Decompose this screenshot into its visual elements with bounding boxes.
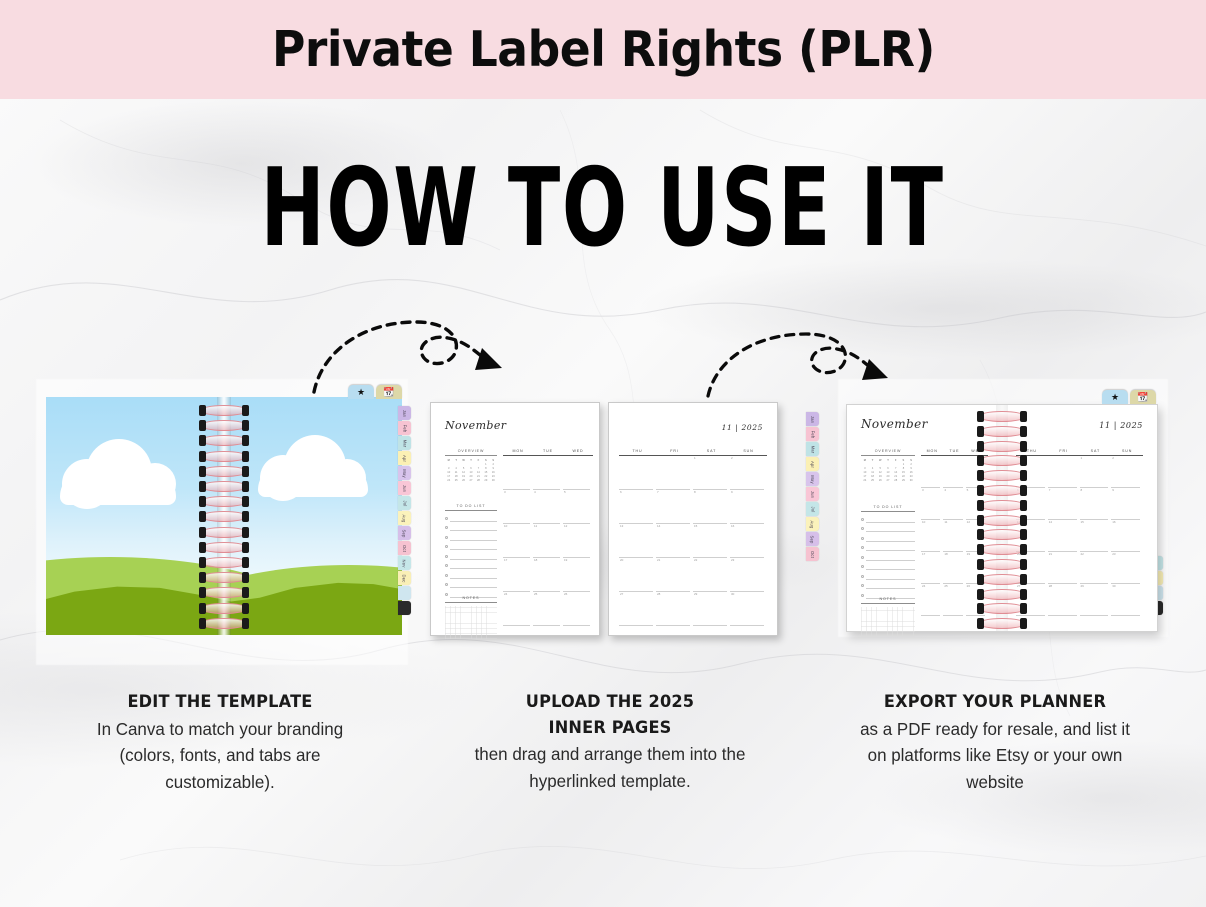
mini-cal-day: 6 [884,467,892,470]
todo-checkbox-icon[interactable] [445,564,448,567]
day-cell[interactable]: 9 [1111,488,1140,520]
mini-cal-day: 17 [861,475,869,478]
weekday-header-left: MONTUEWED [503,449,593,453]
todo-item[interactable] [445,514,497,524]
spiral-ring [978,618,1026,629]
mini-cal-day: 12 [876,471,884,474]
todo-writing-line [450,534,497,541]
day-number: 2 [1112,456,1114,460]
mini-cal-day: 25 [452,479,459,482]
day-cell[interactable]: 27 [619,592,653,626]
month-tab-jun[interactable]: Jun [398,481,411,495]
mini-cal-day: 14 [475,471,482,474]
day-cell[interactable]: 9 [730,490,764,524]
day-number: 24 [504,592,507,596]
spiral-ring [978,544,1026,555]
month-tab-label: Oct [810,550,815,557]
caption-body-1-line-2: (colors, fonts, and tabs are [26,742,414,769]
day-cell[interactable]: 3 [503,490,530,524]
weekday-label: SAT [1080,449,1112,453]
day-cell[interactable]: 24 [503,592,530,626]
notes-heading-left: NOTES [445,596,497,603]
todo-item[interactable] [861,553,915,563]
month-tab-jun[interactable]: Jun [806,487,819,501]
spiral-ring [200,618,248,629]
day-cell[interactable]: 11 [533,524,560,558]
weekday-label: THU [619,449,656,453]
todo-writing-line [866,535,915,542]
caption-body-3-line-3: website [796,769,1194,796]
month-tab-mar[interactable]: Mar [398,436,411,450]
day-number: 10 [922,520,925,524]
month-tab-sep[interactable]: Sep [398,526,411,540]
notes-grid-left[interactable] [445,606,497,639]
spiral-ring [978,500,1026,511]
todo-item[interactable] [861,515,915,525]
week-row[interactable]: 27282930 [1016,584,1143,616]
day-cell[interactable]: 30 [730,592,764,626]
day-cell[interactable]: 21 [1048,552,1077,584]
spiral-ring [978,529,1026,540]
day-number: 27 [620,592,623,596]
month-tab-label: Jan [810,415,815,422]
day-cell[interactable]: 16 [730,524,764,558]
month-tab-mar[interactable]: Mar [806,442,819,456]
planner-full-spread[interactable]: November OVERVIEW MTWTFSS123456789101112… [846,404,1158,632]
mini-cal-dow: F [892,459,900,462]
todo-list-left[interactable] [445,514,497,600]
day-cell[interactable]: 1 [1080,456,1109,488]
todo-item[interactable] [861,581,915,591]
month-tab-apr[interactable]: Apr [398,451,411,465]
day-cell[interactable] [943,456,962,488]
day-cell[interactable]: 14 [1048,520,1077,552]
month-tab-strip-1[interactable]: JanFebMarAprMayJunJulAugSepOctNovDec [398,406,411,616]
todo-writing-line [450,524,497,531]
day-cell[interactable]: 8 [693,490,727,524]
day-cell[interactable]: 16 [1111,520,1140,552]
month-tab-jul[interactable]: Jul [806,502,819,516]
day-cell[interactable]: 3 [921,488,940,520]
day-number: 21 [657,558,660,562]
day-cell[interactable]: 19 [563,558,590,592]
month-tab-aug[interactable]: Aug [398,511,411,525]
mini-cal-day: 24 [445,479,452,482]
mini-cal-dow: T [452,459,459,462]
todo-checkbox-icon[interactable] [861,584,864,587]
month-tab-feb[interactable]: Feb [398,421,411,435]
headline-block: HOW TO USE IT [0,160,1206,256]
day-cell[interactable]: 18 [533,558,560,592]
week-rows-left[interactable]: 345101112171819242526 [503,456,593,626]
todo-item[interactable] [445,580,497,590]
month-tab-label: Aug [402,514,407,522]
todo-writing-line [866,563,915,570]
mini-cal-day: 4 [452,467,459,470]
planner-page-left[interactable]: November OVERVIEW MTWTFSS123456789101112… [430,402,600,636]
mini-cal-day: 6 [467,467,474,470]
day-cell[interactable] [533,456,560,490]
todo-writing-line [866,554,915,561]
mini-cal-day: 16 [490,471,497,474]
year-mark-right: 11 | 2025 [722,423,763,432]
todo-checkbox-icon[interactable] [445,574,448,577]
mini-cal-dow: T [884,459,892,462]
mini-cal-day: 20 [884,475,892,478]
day-cell[interactable]: 20 [619,558,653,592]
month-tab-oct[interactable]: Oct [398,541,411,555]
caption-body-2-line-2: hyperlinked template. [416,768,804,795]
day-number: 3 [504,490,506,494]
day-cell[interactable]: 8 [1080,488,1109,520]
mini-cal-day: 26 [876,479,884,482]
day-number: 20 [620,558,623,562]
year-mark-spread: 11 | 2025 [1099,421,1143,430]
day-cell[interactable]: 29 [693,592,727,626]
todo-block-spread: TO DO LIST [861,505,915,600]
weekday-label: MON [503,449,533,453]
week-row[interactable]: 6789 [1016,488,1143,520]
week-row[interactable]: 101112 [503,524,593,558]
spiral-ring [200,527,248,538]
day-cell[interactable] [619,456,653,490]
todo-checkbox-icon[interactable] [861,537,864,540]
week-row[interactable]: 345 [503,490,593,524]
page-title: Private Label Rights (PLR) [272,21,935,78]
month-tab-nov[interactable]: Nov [398,556,411,570]
day-number: 11 [534,524,537,528]
todo-checkbox-icon[interactable] [861,546,864,549]
month-tab-label: Sep [402,529,407,537]
todo-item[interactable] [861,543,915,553]
mini-cal-dow: T [869,459,877,462]
top-tab-star-3[interactable]: ★ [1102,390,1128,404]
mini-cal-dow: S [482,459,489,462]
week-row[interactable]: 171819 [503,558,593,592]
mini-cal-day: 23 [907,475,915,478]
home-tab[interactable] [398,601,411,615]
day-cell[interactable]: 2 [730,456,764,490]
day-cell[interactable]: 25 [533,592,560,626]
todo-writing-line [866,582,915,589]
caption-body-2-line-1: then drag and arrange them into the [416,741,804,768]
caption-step-3: EXPORT YOUR PLANNER as a PDF ready for r… [790,690,1200,795]
todo-item[interactable] [445,561,497,571]
month-tab-strip-3-left[interactable]: JanFebMarAprMayJunJulAugSepOct [806,412,819,562]
month-tab-jan[interactable]: Jan [398,406,411,420]
caption-step-1: EDIT THE TEMPLATE In Canva to match your… [20,690,420,795]
overview-block-left: OVERVIEW MTWTFSS123456789101112131415161… [445,449,497,482]
day-cell[interactable]: 21 [656,558,690,592]
top-tab-calendar-3[interactable]: 📆 [1130,390,1156,404]
planner-cover-spread[interactable] [46,397,402,635]
todo-item[interactable] [861,524,915,534]
month-tab-label: Feb [810,430,815,438]
mini-cal-day: 18 [452,475,459,478]
day-cell[interactable] [921,456,940,488]
day-cell[interactable]: 23 [730,558,764,592]
mini-cal-day: 30 [490,479,497,482]
day-number: 19 [967,552,970,556]
day-number: 21 [1049,552,1052,556]
mini-cal-day: 15 [900,471,908,474]
todo-checkbox-icon[interactable] [445,555,448,558]
month-tab-label: May [810,475,815,484]
todo-checkbox-icon[interactable] [445,526,448,529]
day-cell[interactable]: 2 [1111,456,1140,488]
star-icon-3: ★ [1111,393,1119,402]
spiral-ring [200,603,248,614]
todo-checkbox-icon[interactable] [445,536,448,539]
mini-calendar-left: MTWTFSS123456789101112131415161718192021… [445,459,497,482]
month-tab-label: Apr [810,460,815,467]
day-cell[interactable]: 23 [1111,552,1140,584]
day-cell[interactable] [503,456,530,490]
mini-cal-dow: T [467,459,474,462]
month-tab-sep[interactable]: Sep [806,532,819,546]
mini-cal-day: 19 [460,475,467,478]
day-cell[interactable]: 15 [1080,520,1109,552]
day-cell[interactable]: 24 [921,584,940,616]
day-number: 4 [944,488,946,492]
week-row[interactable] [503,456,593,490]
week-row[interactable]: 6789 [619,490,767,524]
headline-text: HOW TO USE IT [261,154,945,262]
day-cell[interactable]: 17 [503,558,530,592]
day-number: 5 [564,490,566,494]
mini-cal-day: 5 [876,467,884,470]
day-number: 13 [620,524,623,528]
mini-cal-dow: M [861,459,869,462]
month-tab-feb[interactable]: Feb [806,427,819,441]
todo-checkbox-icon[interactable] [861,518,864,521]
spiral-ring [978,603,1026,614]
todo-item[interactable] [445,523,497,533]
month-tab-label: Mar [810,445,815,453]
day-number: 8 [694,490,696,494]
day-cell[interactable]: 29 [1080,584,1109,616]
week-row[interactable]: 12 [619,456,767,490]
day-cell[interactable]: 15 [693,524,727,558]
todo-item[interactable] [445,542,497,552]
spiral-ring [200,496,248,507]
day-number: 1 [694,456,696,460]
day-cell[interactable]: 22 [1080,552,1109,584]
week-row[interactable]: 13141516 [619,524,767,558]
month-tab-label: Jan [402,409,407,416]
day-cell[interactable]: 6 [619,490,653,524]
week-row[interactable]: 13141516 [1016,520,1143,552]
mini-cal-day: 21 [892,475,900,478]
mini-cal-day: 8 [482,467,489,470]
day-cell[interactable]: 4 [943,488,962,520]
month-tab-oct[interactable]: Oct [806,547,819,561]
day-number: 10 [504,524,507,528]
todo-writing-line [866,573,915,580]
curved-arrow-icon-1 [296,308,516,398]
month-tab-jul[interactable]: Jul [398,496,411,510]
month-tab-may[interactable]: May [398,466,411,480]
week-row[interactable]: 242526 [503,592,593,626]
mini-cal-day: 30 [907,479,915,482]
spiral-ring [978,426,1026,437]
mini-cal-dow: S [900,459,908,462]
todo-item[interactable] [861,562,915,572]
weekgrid-right: THUFRISATSUN 126789131415162021222327282… [619,449,767,627]
notes-tab[interactable] [398,586,411,600]
month-tab-label: May [402,469,407,478]
mini-cal-day: 5 [460,467,467,470]
day-number: 28 [657,592,660,596]
spiral-ring [978,455,1026,466]
day-cell[interactable]: 22 [693,558,727,592]
spiral-ring [200,420,248,431]
weekday-label: SUN [1111,449,1143,453]
todo-item[interactable] [445,552,497,562]
day-cell[interactable]: 7 [1048,488,1077,520]
mini-cal-dow: M [445,459,452,462]
overview-heading-spread: OVERVIEW [861,449,915,456]
spiral-ring [200,511,248,522]
day-number: 30 [1112,584,1115,588]
mini-cal-day: 27 [467,479,474,482]
day-cell[interactable]: 13 [619,524,653,558]
todo-item[interactable] [861,572,915,582]
caption-body-1-line-1: In Canva to match your branding [26,716,414,743]
day-number: 29 [694,592,697,596]
weekday-label: SUN [730,449,767,453]
day-cell[interactable]: 14 [656,524,690,558]
mini-cal-day: 24 [861,479,869,482]
week-rows-spread-right[interactable]: 126789131415162021222327282930 [1016,456,1143,616]
day-number: 16 [731,524,734,528]
day-number: 11 [944,520,947,524]
mini-cal-dow: S [490,459,497,462]
todo-item[interactable] [445,533,497,543]
todo-checkbox-icon[interactable] [861,575,864,578]
notes-block-left: NOTES [445,596,497,639]
mini-cal-day: 16 [907,471,915,474]
caption-body-1: In Canva to match your branding (colors,… [26,716,414,796]
day-cell[interactable]: 25 [943,584,962,616]
day-number: 18 [944,552,947,556]
todo-checkbox-icon[interactable] [861,556,864,559]
todo-checkbox-icon[interactable] [445,583,448,586]
week-rows-right[interactable]: 126789131415162021222327282930 [619,456,767,626]
todo-heading-left: TO DO LIST [445,504,497,511]
day-cell[interactable]: 17 [921,552,940,584]
day-cell[interactable]: 1 [693,456,727,490]
mini-cal-day: 10 [861,471,869,474]
day-cell[interactable]: 26 [563,592,590,626]
day-number: 7 [657,490,659,494]
mini-cal-day: 1 [900,463,908,466]
day-cell[interactable]: 10 [921,520,940,552]
day-number: 4 [534,490,536,494]
month-tab-jan[interactable]: Jan [806,412,819,426]
mini-cal-day: 15 [482,471,489,474]
month-tab-label: Oct [402,544,407,551]
day-cell[interactable]: 7 [656,490,690,524]
day-number: 15 [1081,520,1084,524]
day-cell[interactable]: 4 [533,490,560,524]
week-row[interactable]: 20212223 [1016,552,1143,584]
todo-checkbox-icon[interactable] [861,565,864,568]
month-tab-dec[interactable]: Dec [398,571,411,585]
day-cell[interactable]: 11 [943,520,962,552]
day-cell[interactable]: 28 [656,592,690,626]
todo-checkbox-icon[interactable] [861,527,864,530]
day-number: 17 [504,558,507,562]
day-cell[interactable] [563,456,590,490]
week-row[interactable]: 12 [1016,456,1143,488]
day-cell[interactable]: 12 [563,524,590,558]
month-tab-apr[interactable]: Apr [806,457,819,471]
caption-body-3: as a PDF ready for resale, and list it o… [796,716,1194,796]
mini-cal-day: 1 [482,463,489,466]
day-cell[interactable] [656,456,690,490]
todo-writing-line [450,562,497,569]
day-cell[interactable]: 5 [563,490,590,524]
weekday-label: SAT [693,449,730,453]
mini-cal-day: 7 [892,467,900,470]
mini-cal-day: 18 [869,475,877,478]
curved-arrow-icon-2 [692,330,902,400]
caption-title-2-line-1: UPLOAD THE 2025 [420,690,800,716]
cloud-icon-right-base [258,465,368,497]
todo-writing-line [450,581,497,588]
todo-item[interactable] [861,534,915,544]
day-cell[interactable] [1048,456,1077,488]
weekday-label: FRI [656,449,693,453]
month-title-left: November [445,419,506,432]
day-cell[interactable]: 30 [1111,584,1140,616]
week-row[interactable]: 20212223 [619,558,767,592]
caption-title-1: EDIT THE TEMPLATE [30,690,410,716]
header-band: Private Label Rights (PLR) [0,0,1206,99]
day-cell[interactable]: 10 [503,524,530,558]
notes-grid-spread[interactable] [861,607,915,637]
mini-cal-dow: W [876,459,884,462]
mini-cal-day [460,463,467,466]
planner-page-right[interactable]: 11 | 2025 THUFRISATSUN 12678913141516202… [608,402,778,636]
spiral-ring [978,515,1026,526]
mini-cal-day: 10 [445,471,452,474]
todo-writing-line [866,544,915,551]
mini-cal-day: 7 [475,467,482,470]
day-number: 26 [564,592,567,596]
weekday-label: TUE [943,449,965,453]
todo-heading-spread: TO DO LIST [861,505,915,512]
caption-body-1-line-3: customizable). [26,769,414,796]
month-tab-may[interactable]: May [806,472,819,486]
spiral-ring [978,574,1026,585]
weekgrid-spread-right: THUFRISATSUN 126789131415162021222327282… [1016,449,1143,625]
week-row[interactable]: 27282930 [619,592,767,626]
overview-heading-left: OVERVIEW [445,449,497,456]
day-cell[interactable]: 28 [1048,584,1077,616]
todo-writing-line [866,525,915,532]
todo-writing-line [450,572,497,579]
todo-checkbox-icon[interactable] [445,545,448,548]
todo-checkbox-icon[interactable] [445,517,448,520]
todo-list-spread[interactable] [861,515,915,601]
todo-item[interactable] [445,571,497,581]
month-tab-aug[interactable]: Aug [806,517,819,531]
day-cell[interactable]: 18 [943,552,962,584]
spiral-ring [200,451,248,462]
mini-cal-day: 13 [884,471,892,474]
